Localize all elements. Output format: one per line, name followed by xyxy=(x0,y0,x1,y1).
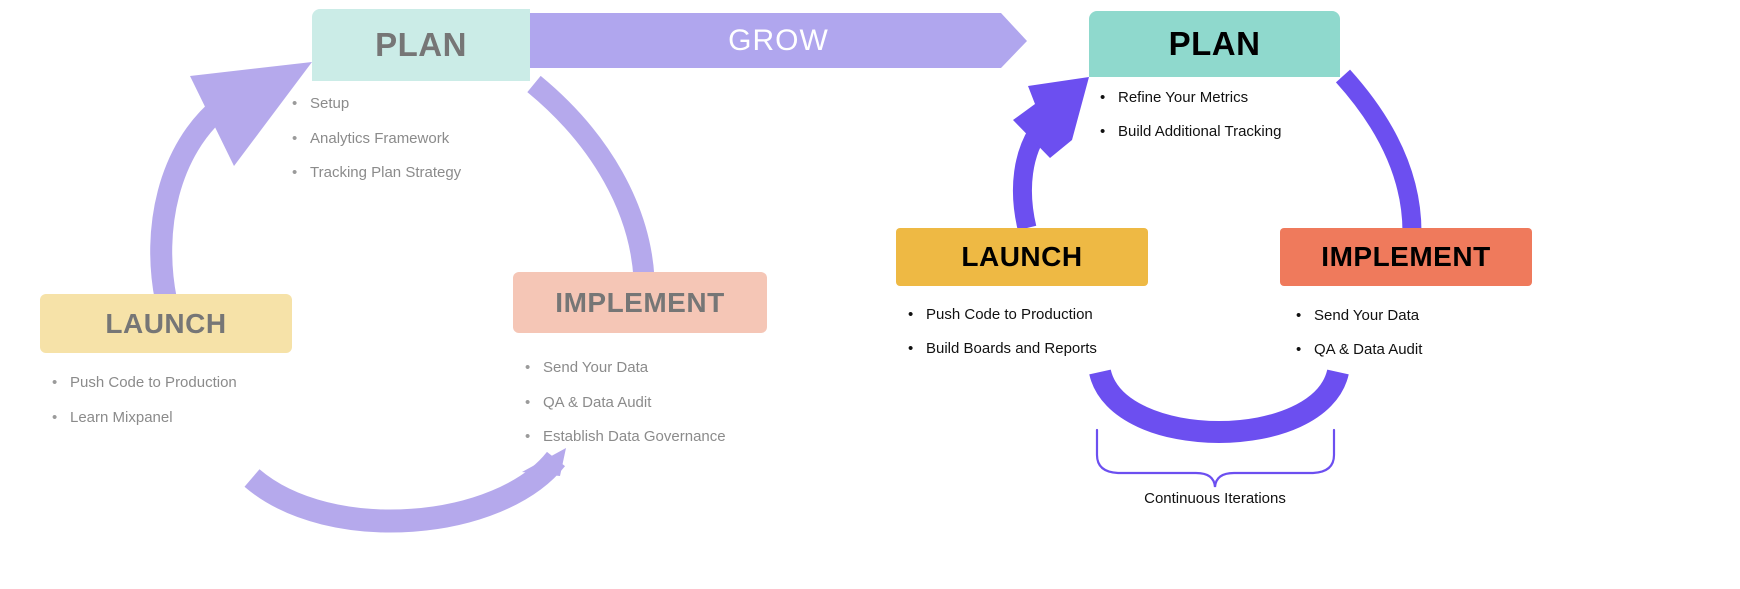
continuous-iterations-brace xyxy=(1097,430,1334,487)
arrow-launch-to-plan-right xyxy=(1022,126,1042,228)
list-item-label: Build Additional Tracking xyxy=(1118,124,1281,141)
arrow-launch-to-plan-left xyxy=(161,106,222,300)
right-stage-launch-label: LAUNCH xyxy=(961,241,1082,273)
arrowhead-launch-to-plan-right xyxy=(1013,77,1089,158)
grow-label: GROW xyxy=(728,24,829,58)
right-stage-implement-bullets: • Send Your Data • QA & Data Audit xyxy=(1296,308,1596,358)
bullet-icon: • xyxy=(1296,308,1314,325)
bullet-icon: • xyxy=(1296,342,1314,359)
left-stage-launch-header[interactable]: LAUNCH xyxy=(40,294,292,353)
list-item: • Setup xyxy=(292,96,592,113)
left-stage-plan-label: PLAN xyxy=(375,26,467,64)
list-item: • Analytics Framework xyxy=(292,131,592,148)
left-stage-launch-label: LAUNCH xyxy=(105,308,226,340)
bullet-icon: • xyxy=(908,307,926,324)
list-item-label: QA & Data Audit xyxy=(543,395,651,412)
list-item: • Refine Your Metrics xyxy=(1100,90,1400,107)
left-stage-implement-header[interactable]: IMPLEMENT xyxy=(513,272,767,333)
list-item-label: Send Your Data xyxy=(543,360,648,377)
list-item-label: Build Boards and Reports xyxy=(926,341,1097,358)
bullet-icon: • xyxy=(1100,124,1118,141)
list-item-label: Analytics Framework xyxy=(310,131,449,148)
right-stage-plan-header[interactable]: PLAN xyxy=(1089,11,1340,77)
list-item-label: Tracking Plan Strategy xyxy=(310,165,461,182)
arrowhead-implement-to-launch-left xyxy=(522,448,566,476)
arrow-implement-to-launch-right xyxy=(1100,372,1338,432)
list-item-label: Push Code to Production xyxy=(70,375,237,392)
left-stage-launch-bullets: • Push Code to Production • Learn Mixpan… xyxy=(52,375,352,426)
bullet-icon: • xyxy=(52,375,70,392)
list-item: • Establish Data Governance xyxy=(525,429,855,446)
right-stage-plan-label: PLAN xyxy=(1169,25,1261,63)
right-stage-implement-header[interactable]: IMPLEMENT xyxy=(1280,228,1532,286)
list-item: • Learn Mixpanel xyxy=(52,410,352,427)
list-item-label: Send Your Data xyxy=(1314,308,1419,325)
left-stage-implement-label: IMPLEMENT xyxy=(555,287,724,319)
bullet-icon: • xyxy=(292,131,310,148)
diagram-canvas: GROW PLAN • Setup • Analytics Framework … xyxy=(0,0,1740,589)
list-item-label: Setup xyxy=(310,96,349,113)
list-item: • Send Your Data xyxy=(525,360,855,377)
list-item-label: Learn Mixpanel xyxy=(70,410,173,427)
bullet-icon: • xyxy=(525,429,543,446)
continuous-iterations-caption: Continuous Iterations xyxy=(1065,490,1365,507)
right-stage-launch-bullets: • Push Code to Production • Build Boards… xyxy=(908,307,1238,357)
arrow-implement-to-launch-left xyxy=(252,459,556,521)
bullet-icon: • xyxy=(908,341,926,358)
grow-banner: GROW xyxy=(530,13,1027,68)
bullet-icon: • xyxy=(525,395,543,412)
list-item-label: Refine Your Metrics xyxy=(1118,90,1248,107)
list-item: • QA & Data Audit xyxy=(1296,342,1596,359)
list-item: • Build Additional Tracking xyxy=(1100,124,1400,141)
list-item: • QA & Data Audit xyxy=(525,395,855,412)
bullet-icon: • xyxy=(292,165,310,182)
left-stage-plan-header[interactable]: PLAN xyxy=(312,9,530,81)
bullet-icon: • xyxy=(292,96,310,113)
list-item: • Send Your Data xyxy=(1296,308,1596,325)
list-item: • Tracking Plan Strategy xyxy=(292,165,592,182)
list-item: • Push Code to Production xyxy=(908,307,1238,324)
list-item: • Push Code to Production xyxy=(52,375,352,392)
left-stage-plan-bullets: • Setup • Analytics Framework • Tracking… xyxy=(292,96,592,182)
bullet-icon: • xyxy=(52,410,70,427)
right-stage-launch-header[interactable]: LAUNCH xyxy=(896,228,1148,286)
bullet-icon: • xyxy=(1100,90,1118,107)
bullet-icon: • xyxy=(525,360,543,377)
left-stage-implement-bullets: • Send Your Data • QA & Data Audit • Est… xyxy=(525,360,855,446)
list-item-label: Establish Data Governance xyxy=(543,429,726,446)
list-item-label: QA & Data Audit xyxy=(1314,342,1422,359)
list-item-label: Push Code to Production xyxy=(926,307,1093,324)
list-item: • Build Boards and Reports xyxy=(908,341,1238,358)
right-stage-plan-bullets: • Refine Your Metrics • Build Additional… xyxy=(1100,90,1400,140)
right-stage-implement-label: IMPLEMENT xyxy=(1321,241,1490,273)
